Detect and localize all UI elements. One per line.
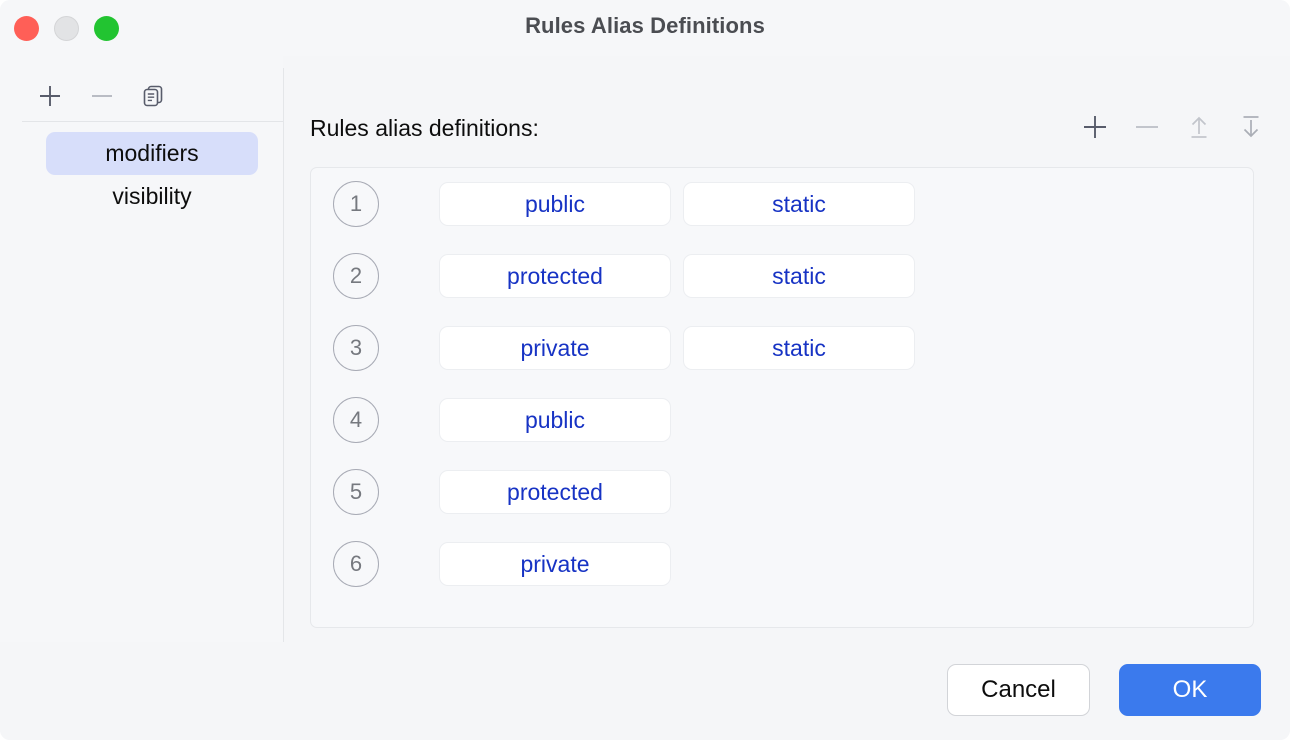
minus-icon	[1133, 113, 1161, 146]
rule-token[interactable]: static	[683, 326, 915, 370]
sidebar-item-label: modifiers	[105, 140, 198, 167]
main-panel: Rules alias definitions:	[283, 56, 1290, 642]
row-number: 5	[333, 469, 379, 515]
sidebar-item-modifiers[interactable]: modifiers	[46, 132, 258, 175]
table-row[interactable]: 4 public	[333, 397, 671, 443]
table-row[interactable]: 1 public static	[333, 181, 915, 227]
rule-add-button[interactable]	[1080, 112, 1110, 146]
row-number: 3	[333, 325, 379, 371]
rule-remove-button[interactable]	[1132, 112, 1162, 146]
sidebar-remove-button[interactable]	[76, 78, 128, 118]
rule-token[interactable]: protected	[439, 254, 671, 298]
rule-move-up-button[interactable]	[1184, 112, 1214, 146]
titlebar: Rules Alias Definitions	[0, 0, 1290, 56]
rule-token[interactable]: public	[439, 398, 671, 442]
sidebar-item-label: visibility	[112, 183, 191, 210]
rules-list-container: 1 public static 2 protected static 3 pri…	[310, 167, 1254, 628]
move-up-icon	[1185, 113, 1213, 146]
minus-icon	[89, 83, 115, 114]
page-title: Rules Alias Definitions	[0, 13, 1290, 39]
rule-token[interactable]: private	[439, 542, 671, 586]
plus-icon	[1081, 113, 1109, 146]
plus-icon	[37, 83, 63, 114]
table-row[interactable]: 5 protected	[333, 469, 671, 515]
table-row[interactable]: 3 private static	[333, 325, 915, 371]
rules-alias-definitions-dialog: Rules Alias Definitions	[0, 0, 1290, 740]
rules-alias-definitions-label: Rules alias definitions:	[310, 115, 539, 142]
sidebar-item-visibility[interactable]: visibility	[46, 175, 258, 218]
sidebar-list: modifiers visibility	[0, 132, 283, 218]
sidebar-toolbar	[24, 78, 180, 118]
cancel-button[interactable]: Cancel	[947, 664, 1090, 716]
ok-button[interactable]: OK	[1119, 664, 1261, 716]
move-down-icon	[1237, 113, 1265, 146]
table-row[interactable]: 6 private	[333, 541, 671, 587]
rule-token[interactable]: public	[439, 182, 671, 226]
dialog-footer: Cancel OK	[0, 642, 1290, 740]
sidebar-duplicate-button[interactable]	[128, 78, 180, 118]
row-number: 4	[333, 397, 379, 443]
sidebar-add-button[interactable]	[24, 78, 76, 118]
rule-move-down-button[interactable]	[1236, 112, 1266, 146]
row-number: 2	[333, 253, 379, 299]
row-number: 6	[333, 541, 379, 587]
rule-token[interactable]: protected	[439, 470, 671, 514]
sidebar-separator	[22, 121, 283, 122]
rule-token[interactable]: static	[683, 182, 915, 226]
sidebar: modifiers visibility	[0, 56, 283, 642]
duplicate-icon	[141, 83, 167, 114]
rule-token[interactable]: static	[683, 254, 915, 298]
rules-toolbar	[1080, 112, 1266, 146]
row-number: 1	[333, 181, 379, 227]
table-row[interactable]: 2 protected static	[333, 253, 915, 299]
rule-token[interactable]: private	[439, 326, 671, 370]
